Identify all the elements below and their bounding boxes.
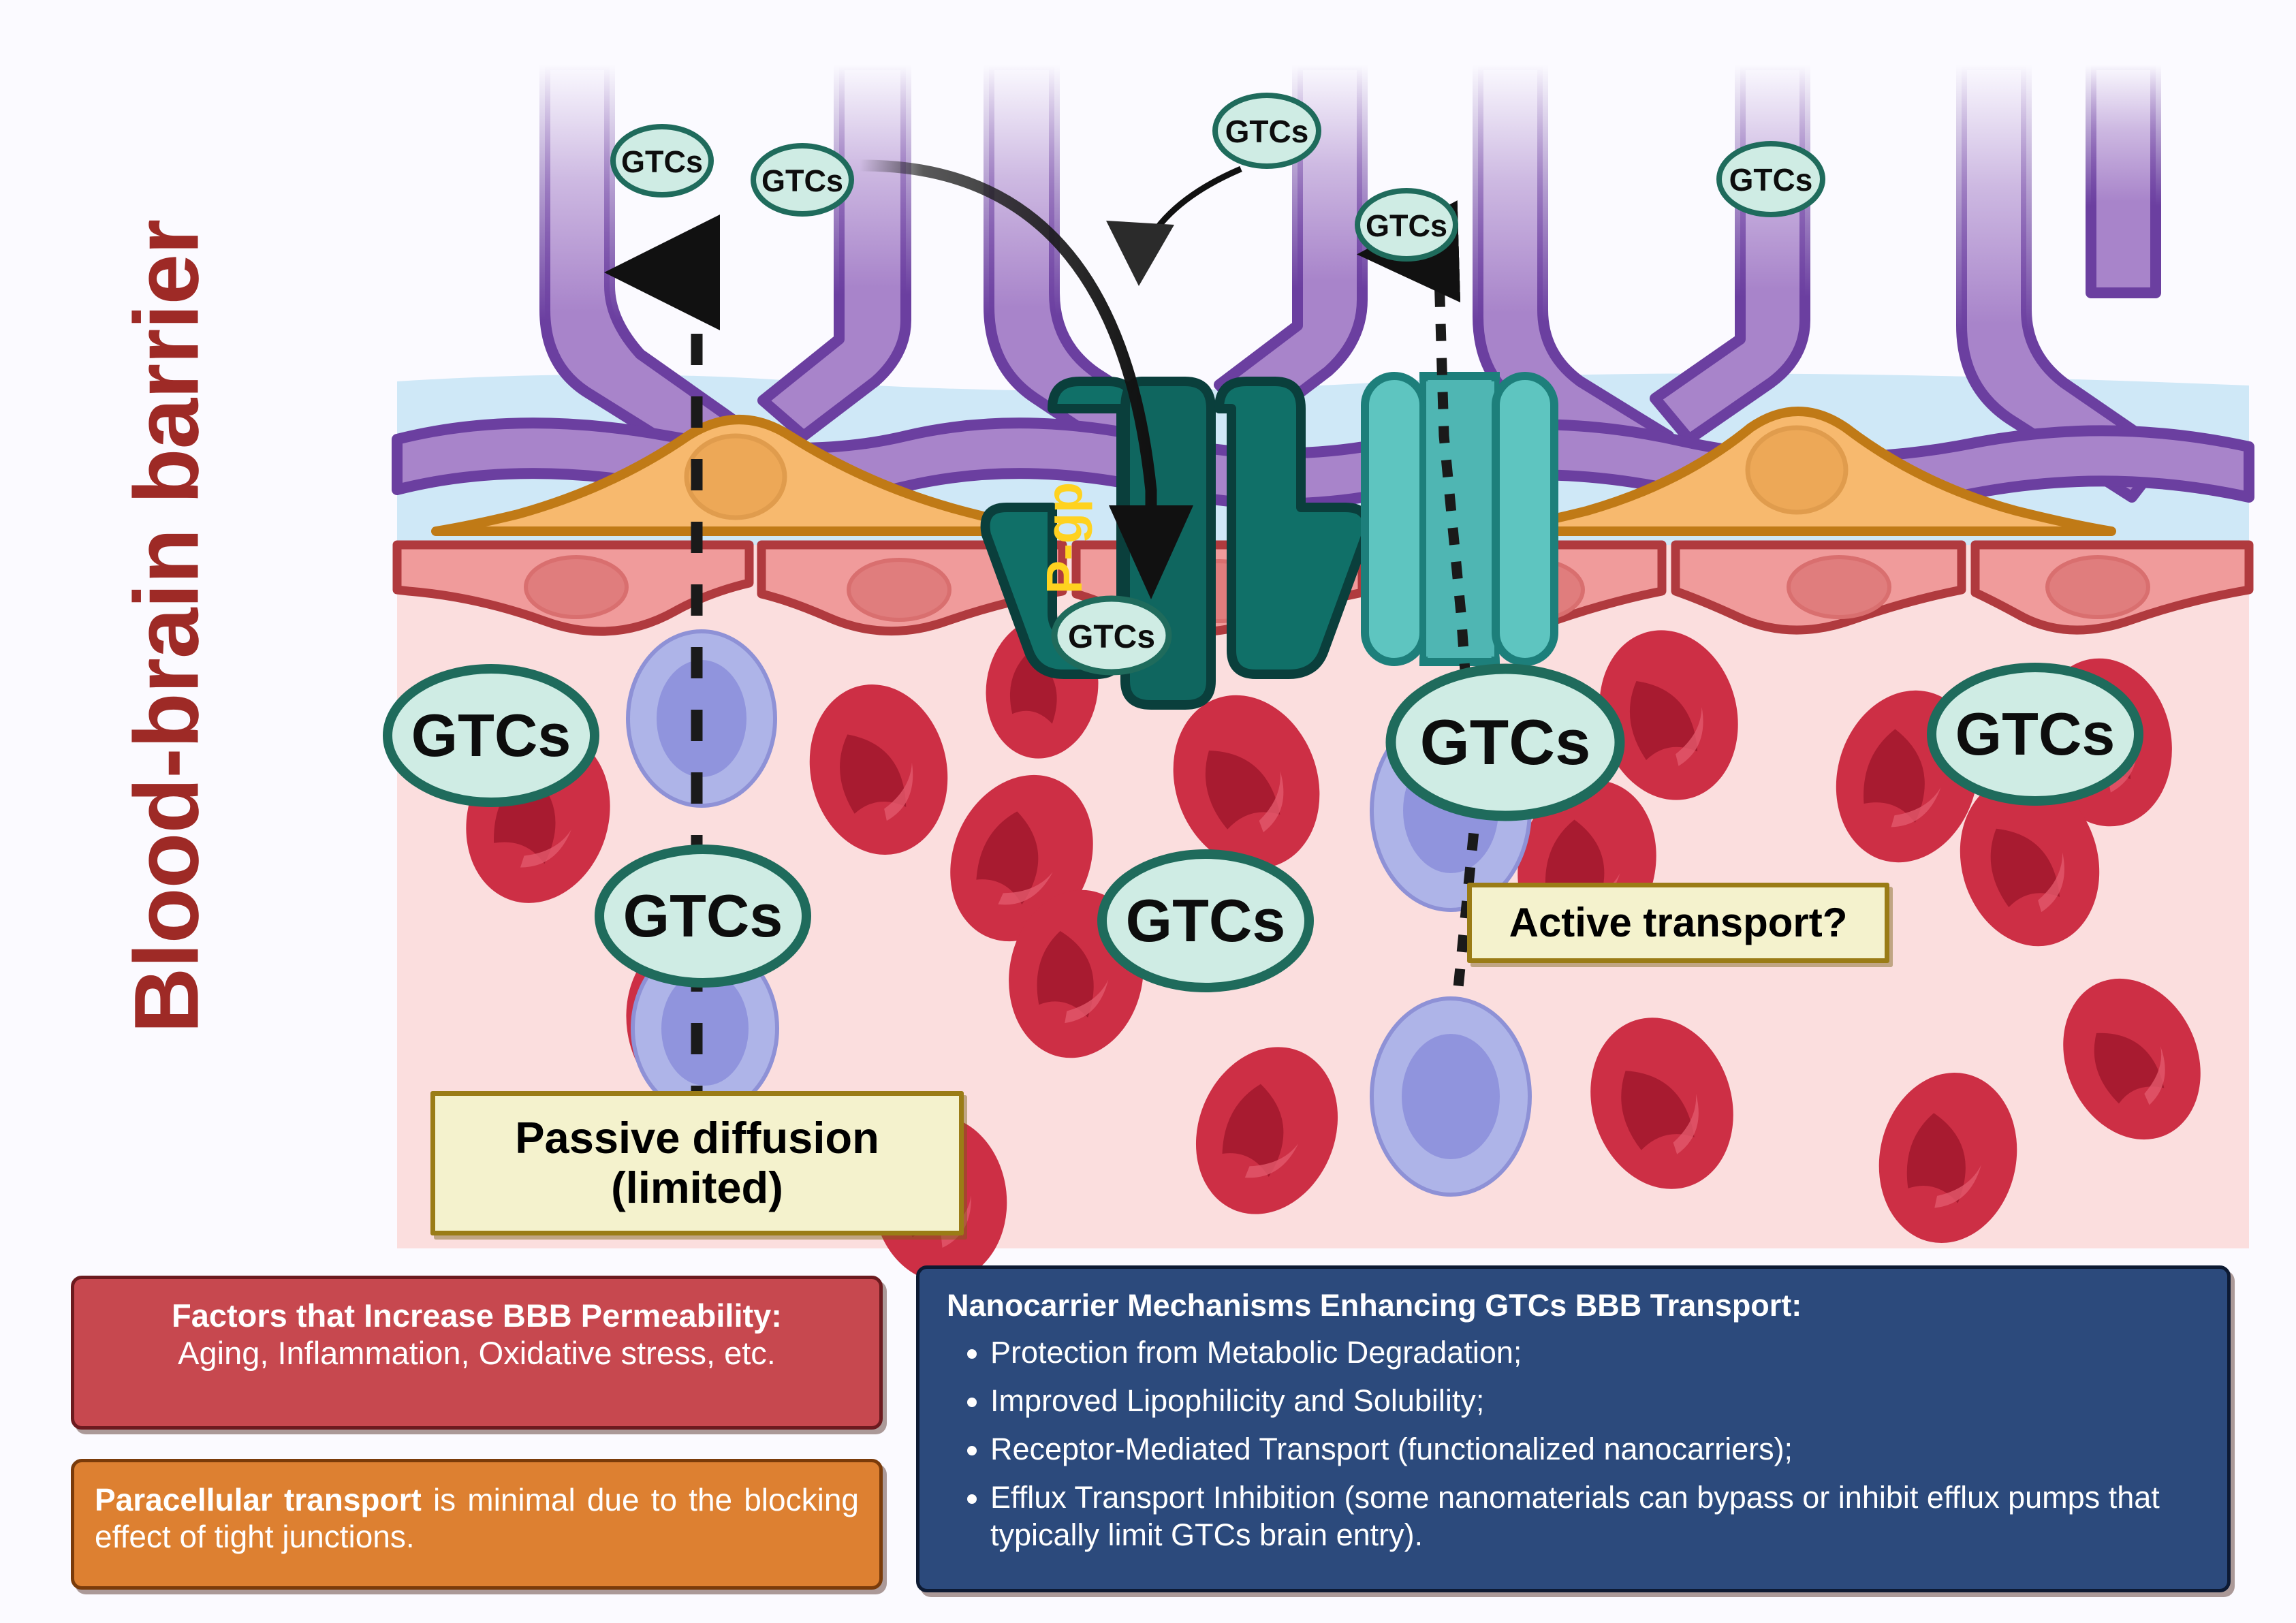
svg-text:GTCs: GTCs [411,702,571,769]
gtcs-oval-large[interactable]: GTCs [599,849,806,983]
gtcs-oval[interactable]: GTCs [1054,599,1169,672]
gtcs-oval[interactable]: GTCs [1357,191,1456,259]
gtcs-oval[interactable]: GTCs [1719,144,1823,215]
gtcs-oval[interactable]: GTCs [613,127,711,195]
gtcs-oval[interactable]: GTCs [1215,95,1319,166]
list-item: Efflux Transport Inhibition (some nanoma… [990,1479,2200,1554]
legend-paracellular-bold: Paracellular transport [95,1482,422,1517]
list-item: Receptor-Mediated Transport (functionali… [990,1431,2200,1468]
vertical-title: Blood-brain barrier [89,54,245,1199]
svg-text:GTCs: GTCs [1225,114,1309,149]
active-transport-label: Active transport? [1467,883,1889,963]
passive-diffusion-label: Passive diffusion (limited) [430,1091,964,1235]
membrane-transporter[interactable] [1365,376,1554,662]
svg-text:GTCs: GTCs [1955,700,2116,768]
list-item: Protection from Metabolic Degradation; [990,1334,2200,1372]
p-gp-label: P-gp [1036,482,1092,594]
gtcs-oval-large[interactable]: GTCs [1932,667,2139,801]
legend-paracellular-box: Paracellular transport is minimal due to… [71,1459,883,1590]
svg-text:GTCs: GTCs [623,882,783,949]
legend-permeability-title: Factors that Increase BBB Permeability: [91,1297,863,1334]
svg-text:GTCs: GTCs [1126,887,1286,954]
svg-text:GTCs: GTCs [1729,162,1813,198]
svg-text:GTCs: GTCs [621,144,703,179]
legend-paracellular-text: Paracellular transport is minimal due to… [95,1481,859,1555]
svg-text:GTCs: GTCs [1420,706,1591,778]
passive-line-1: Passive diffusion [515,1114,879,1163]
legend-permeability-body: Aging, Inflammation, Oxidative stress, e… [91,1334,863,1372]
gtcs-oval[interactable]: GTCs [753,146,851,214]
list-item: Improved Lipophilicity and Solubility; [990,1383,2200,1420]
gtcs-oval-large[interactable]: GTCs [1102,854,1309,988]
passive-line-2: (limited) [515,1163,879,1213]
diagram-canvas: P-gp GTCs [0,0,2296,1623]
page-title: Blood-brain barrier [115,220,219,1034]
svg-text:GTCs: GTCs [761,163,843,198]
svg-text:GTCs: GTCs [1068,619,1155,655]
legend-nanocarrier-list: Protection from Metabolic Degradation; I… [947,1334,2200,1554]
active-transport-text: Active transport? [1509,900,1848,945]
gtcs-oval-large[interactable]: GTCs [1391,669,1620,816]
gtcs-oval-large[interactable]: GTCs [388,669,595,802]
legend-nanocarrier-title: Nanocarrier Mechanisms Enhancing GTCs BB… [947,1288,2200,1323]
legend-permeability-box: Factors that Increase BBB Permeability: … [71,1276,883,1430]
legend-nanocarrier-box: Nanocarrier Mechanisms Enhancing GTCs BB… [916,1265,2231,1592]
svg-text:GTCs: GTCs [1366,208,1447,243]
